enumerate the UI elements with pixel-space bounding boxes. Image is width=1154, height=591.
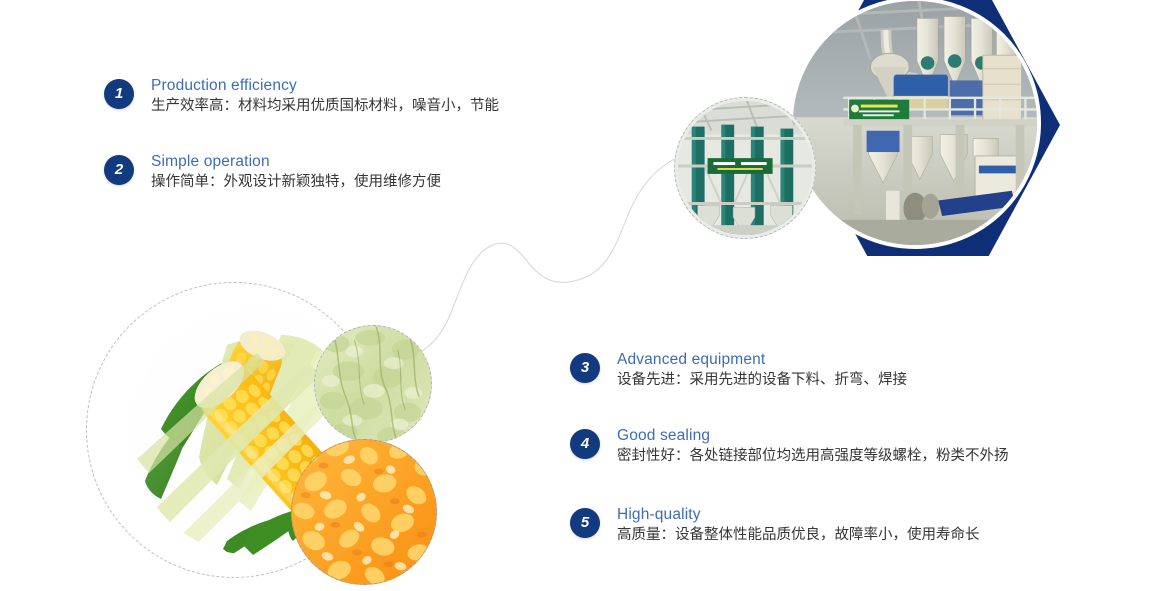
orange-corn-grits-photo [291,439,437,585]
feature-item-4[interactable]: 4 Good sealing 密封性好：各处链接部位均选用高强度等级螺栓，粉类不… [570,426,1009,467]
feature-title-cn: 生产效率高：材料均采用优质国标材料，噪音小，节能 [151,96,499,117]
feature-title-en: Simple operation [151,152,441,171]
feature-title-cn: 操作简单：外观设计新颖独特，使用维修方便 [151,172,441,193]
feature-title-cn: 密封性好：各处链接部位均选用高强度等级螺栓，粉类不外扬 [617,446,1009,467]
feature-title-en: Good sealing [617,426,1009,445]
feature-badge-number: 2 [104,155,134,185]
feature-item-2[interactable]: 2 Simple operation 操作简单：外观设计新颖独特，使用维修方便 [104,152,441,193]
feature-text-block: Advanced equipment 设备先进：采用先进的设备下料、折弯、焊接 [617,350,907,391]
feature-title-en: High-quality [617,505,980,524]
feature-text-block: Production efficiency 生产效率高：材料均采用优质国标材料，… [151,76,499,117]
corn-image-group [86,282,486,591]
green-corn-flour-photo [314,325,432,443]
feature-badge-number: 3 [570,353,600,383]
feature-item-1[interactable]: 1 Production efficiency 生产效率高：材料均采用优质国标材… [104,76,499,117]
green-milling-machinery-photo [674,97,816,239]
flour-milling-plant-photo [789,0,1041,249]
feature-badge-number: 4 [570,429,600,459]
feature-title-cn: 高质量：设备整体性能品质优良，故障率小，使用寿命长 [617,525,980,546]
feature-badge-number: 1 [104,79,134,109]
feature-text-block: Good sealing 密封性好：各处链接部位均选用高强度等级螺栓，粉类不外扬 [617,426,1009,467]
feature-item-5[interactable]: 5 High-quality 高质量：设备整体性能品质优良，故障率小，使用寿命长 [570,505,980,546]
feature-title-en: Advanced equipment [617,350,907,369]
feature-badge-number: 5 [570,508,600,538]
hexagon-image-group [660,0,1070,262]
feature-item-3[interactable]: 3 Advanced equipment 设备先进：采用先进的设备下料、折弯、焊… [570,350,907,391]
feature-title-en: Production efficiency [151,76,499,95]
feature-text-block: High-quality 高质量：设备整体性能品质优良，故障率小，使用寿命长 [617,505,980,546]
feature-infographic-page: 1 Production efficiency 生产效率高：材料均采用优质国标材… [0,0,1154,591]
feature-text-block: Simple operation 操作简单：外观设计新颖独特，使用维修方便 [151,152,441,193]
feature-title-cn: 设备先进：采用先进的设备下料、折弯、焊接 [617,370,907,391]
